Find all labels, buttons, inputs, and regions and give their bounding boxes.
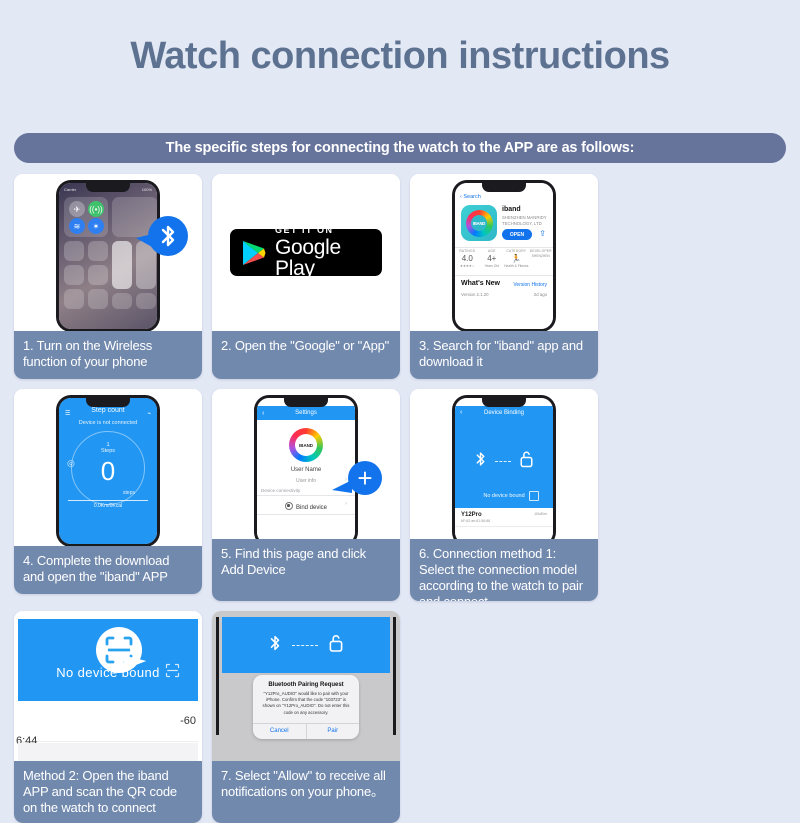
- step-card-7[interactable]: Bluetooth Pairing Request "Y12Pro_AUDIO"…: [212, 611, 400, 823]
- phone-notch: [86, 398, 130, 407]
- device-signal: -60dBm: [534, 512, 547, 516]
- cellular-data-icon[interactable]: ((•)): [88, 201, 104, 217]
- step-6-caption: 6. Connection method 1: Select the conne…: [410, 539, 598, 601]
- device-name: Y12Pro: [461, 512, 490, 518]
- iband-step-count-screen: ☰ ⌁ Step count Device is not connected ◎…: [59, 398, 157, 544]
- user-name: User Name: [257, 467, 355, 473]
- unlock-icon: [328, 633, 344, 658]
- back-to-search-link[interactable]: ‹ Search: [460, 194, 481, 200]
- app-stats-row: RATINGS 4.0 ★★★★☆ AGE 4+ Years Old: [455, 249, 553, 268]
- phone-frame: ☰ ⌁ Step count Device is not connected ◎…: [56, 395, 160, 546]
- page-title: Watch connection instructions: [0, 0, 800, 78]
- connection-status: Device is not connected: [59, 420, 157, 426]
- brightness-slider[interactable]: [112, 241, 132, 289]
- step-2-illustration: GET IT ON Google Play: [212, 174, 400, 331]
- bluetooth-pairing-screen: Bluetooth Pairing Request "Y12Pro_AUDIO"…: [212, 611, 400, 761]
- iband-settings-screen: Settings ‹ IBAND User Name User info › D…: [257, 398, 355, 539]
- step-7-caption: 7. Select "Allow" to receive all notific…: [212, 761, 400, 823]
- calculator-icon[interactable]: [112, 293, 132, 309]
- signal-value: -60: [180, 715, 196, 727]
- method-2-caption: Method 2: Open the iband APP and scan th…: [14, 761, 202, 823]
- screen-mirroring-icon[interactable]: [88, 241, 108, 261]
- phone-edge-right: [393, 617, 396, 735]
- wifi-icon[interactable]: ≋: [69, 218, 85, 234]
- google-play-badge[interactable]: GET IT ON Google Play: [230, 229, 382, 276]
- phone-notch: [482, 183, 526, 192]
- method-2-card[interactable]: No device bound -60: [14, 611, 202, 823]
- subtitle-banner: The specific steps for connecting the wa…: [14, 133, 786, 163]
- step-7-illustration: Bluetooth Pairing Request "Y12Pro_AUDIO"…: [212, 611, 400, 761]
- qr-scan-screen-crop: No device bound -60: [14, 611, 202, 761]
- app-icon: IBAND: [461, 205, 497, 241]
- steps-grid: Carrier 100% ✈ ((•)) ≋ ✶: [14, 174, 786, 823]
- step-card-6[interactable]: ‹ Device Binding: [410, 389, 598, 601]
- app-name: iband: [502, 206, 521, 213]
- pairing-icons: [222, 633, 390, 658]
- goal-label: Steps: [101, 448, 115, 454]
- device-mac: 6F:82:ae:81:56:88: [461, 519, 490, 523]
- distance-calories: 0.0Km/0Kcal: [59, 503, 157, 509]
- status-left: Carrier: [64, 187, 76, 192]
- bind-device-row[interactable]: Bind device: [257, 502, 355, 511]
- version-history-link[interactable]: Version History: [513, 282, 547, 288]
- logo-label: IBAND: [295, 434, 317, 456]
- app-store-page: ‹ Search IBAND iband SHENZHEN MANRIDY TE…: [455, 183, 553, 329]
- open-button[interactable]: OPEN: [502, 229, 532, 240]
- step-4-caption: 4. Complete the download and open the "i…: [14, 546, 202, 594]
- step-card-1[interactable]: Carrier 100% ✈ ((•)) ≋ ✶: [14, 174, 202, 379]
- stat-developer: DEVELOPER SHENZHEN: [529, 249, 554, 268]
- orientation-lock-icon[interactable]: [64, 241, 84, 261]
- goal-readout: 1 Steps: [59, 442, 157, 454]
- chevron-right-icon: ›: [345, 501, 347, 507]
- plus-callout-icon: +: [348, 461, 382, 495]
- connection-dashes: [495, 461, 511, 462]
- connectivity-tile[interactable]: ✈ ((•)) ≋ ✶: [64, 197, 108, 237]
- share-icon[interactable]: ⇪: [539, 229, 546, 238]
- step-1-illustration: Carrier 100% ✈ ((•)) ≋ ✶: [14, 174, 202, 331]
- phone-notch: [482, 398, 526, 407]
- step-3-illustration: ‹ Search IBAND iband SHENZHEN MANRIDY TE…: [410, 174, 598, 331]
- bluetooth-callout-icon: [148, 216, 188, 256]
- step-4-illustration: ☰ ⌁ Step count Device is not connected ◎…: [14, 389, 202, 546]
- step-unit-label: steps: [123, 490, 135, 496]
- bluetooth-icon[interactable]: ✶: [88, 218, 104, 234]
- badge-small-text: GET IT ON: [275, 226, 370, 235]
- device-binding-screen: ‹ Device Binding: [455, 398, 553, 539]
- control-center-tiles: ✈ ((•)) ≋ ✶: [64, 197, 152, 326]
- pair-button[interactable]: Pair: [306, 724, 360, 739]
- flashlight-icon[interactable]: [64, 289, 84, 309]
- stat-ratings: RATINGS 4.0 ★★★★☆: [455, 249, 480, 268]
- badge-large-text: Google Play: [275, 237, 370, 279]
- step-card-3[interactable]: ‹ Search IBAND iband SHENZHEN MANRIDY TE…: [410, 174, 598, 379]
- camera-icon[interactable]: [136, 293, 156, 309]
- step-count-value: 0: [59, 458, 157, 484]
- screen-title: Step count: [59, 407, 157, 414]
- phone-edge-left: [216, 617, 219, 735]
- qr-scan-callout-icon: [96, 627, 142, 673]
- step-5-caption: 5. Find this page and click Add Device: [212, 539, 400, 601]
- qr-scan-icon[interactable]: [165, 663, 180, 678]
- step-3-caption: 3. Search for "iband" app and download i…: [410, 331, 598, 379]
- phone-frame: ‹ Search IBAND iband SHENZHEN MANRIDY TE…: [452, 180, 556, 331]
- dialog-title: Bluetooth Pairing Request: [253, 675, 359, 691]
- back-icon[interactable]: ‹: [262, 406, 264, 420]
- device-list-item[interactable]: Y12Pro 6F:82:ae:81:56:88 -60dBm: [461, 512, 547, 523]
- screen-title: Settings: [257, 406, 355, 420]
- method-2-illustration: No device bound -60: [14, 611, 202, 761]
- app-updated: 2d ago: [534, 292, 547, 297]
- phone-notch: [86, 183, 130, 192]
- cancel-button[interactable]: Cancel: [253, 724, 306, 739]
- stat-age: AGE 4+ Years Old: [480, 249, 505, 268]
- bluetooth-icon: [268, 633, 282, 658]
- screen-title: Device Binding: [455, 410, 553, 416]
- timer-icon[interactable]: [88, 289, 108, 309]
- qr-scan-icon[interactable]: [529, 491, 539, 501]
- focus-tile[interactable]: [88, 265, 108, 285]
- step-card-5[interactable]: Settings ‹ IBAND User Name User info › D…: [212, 389, 400, 601]
- status-right: 100%: [142, 187, 152, 192]
- step-6-illustration: ‹ Device Binding: [410, 389, 598, 539]
- step-5-illustration: Settings ‹ IBAND User Name User info › D…: [212, 389, 400, 539]
- step-card-2[interactable]: GET IT ON Google Play 2. Open the "Googl…: [212, 174, 400, 379]
- pairing-request-dialog: Bluetooth Pairing Request "Y12Pro_AUDIO"…: [253, 675, 359, 739]
- unlock-icon: [519, 450, 534, 473]
- dialog-body: "Y12Pro_AUDIO" would like to pair with y…: [253, 691, 359, 723]
- phone-notch: [284, 398, 328, 407]
- connection-dashes: [292, 645, 318, 646]
- bluetooth-icon: [474, 450, 487, 473]
- instruction-poster: Watch connection instructions The specif…: [0, 0, 800, 678]
- app-icon-label: IBAND: [471, 215, 487, 231]
- phone-frame: Settings ‹ IBAND User Name User info › D…: [254, 395, 358, 539]
- app-version: Version 2.1.20: [461, 292, 488, 297]
- step-2-caption: 2. Open the "Google" or "App": [212, 331, 400, 379]
- step-card-4[interactable]: ☰ ⌁ Step count Device is not connected ◎…: [14, 389, 202, 594]
- step-1-caption: 1. Turn on the Wireless function of your…: [14, 331, 202, 379]
- bind-device-icon: [285, 502, 293, 510]
- google-play-icon: [242, 240, 266, 266]
- section-label: Device connectivity: [261, 488, 300, 493]
- phone-frame: ‹ Device Binding: [452, 395, 556, 539]
- iband-logo: IBAND: [289, 428, 323, 462]
- pairing-icons: [455, 450, 553, 473]
- whats-new-heading: What's New: [461, 280, 500, 287]
- stat-category: CATEGORY 🏃 Health & Fitness: [504, 249, 529, 268]
- phone-frame: Carrier 100% ✈ ((•)) ≋ ✶: [56, 180, 160, 331]
- airplane-mode-icon[interactable]: ✈: [69, 201, 85, 217]
- control-center: Carrier 100% ✈ ((•)) ≋ ✶: [59, 183, 157, 329]
- app-developer: SHENZHEN MANRIDY TECHNOLOGY, LTD: [502, 215, 553, 227]
- do-not-disturb-icon[interactable]: [64, 265, 84, 285]
